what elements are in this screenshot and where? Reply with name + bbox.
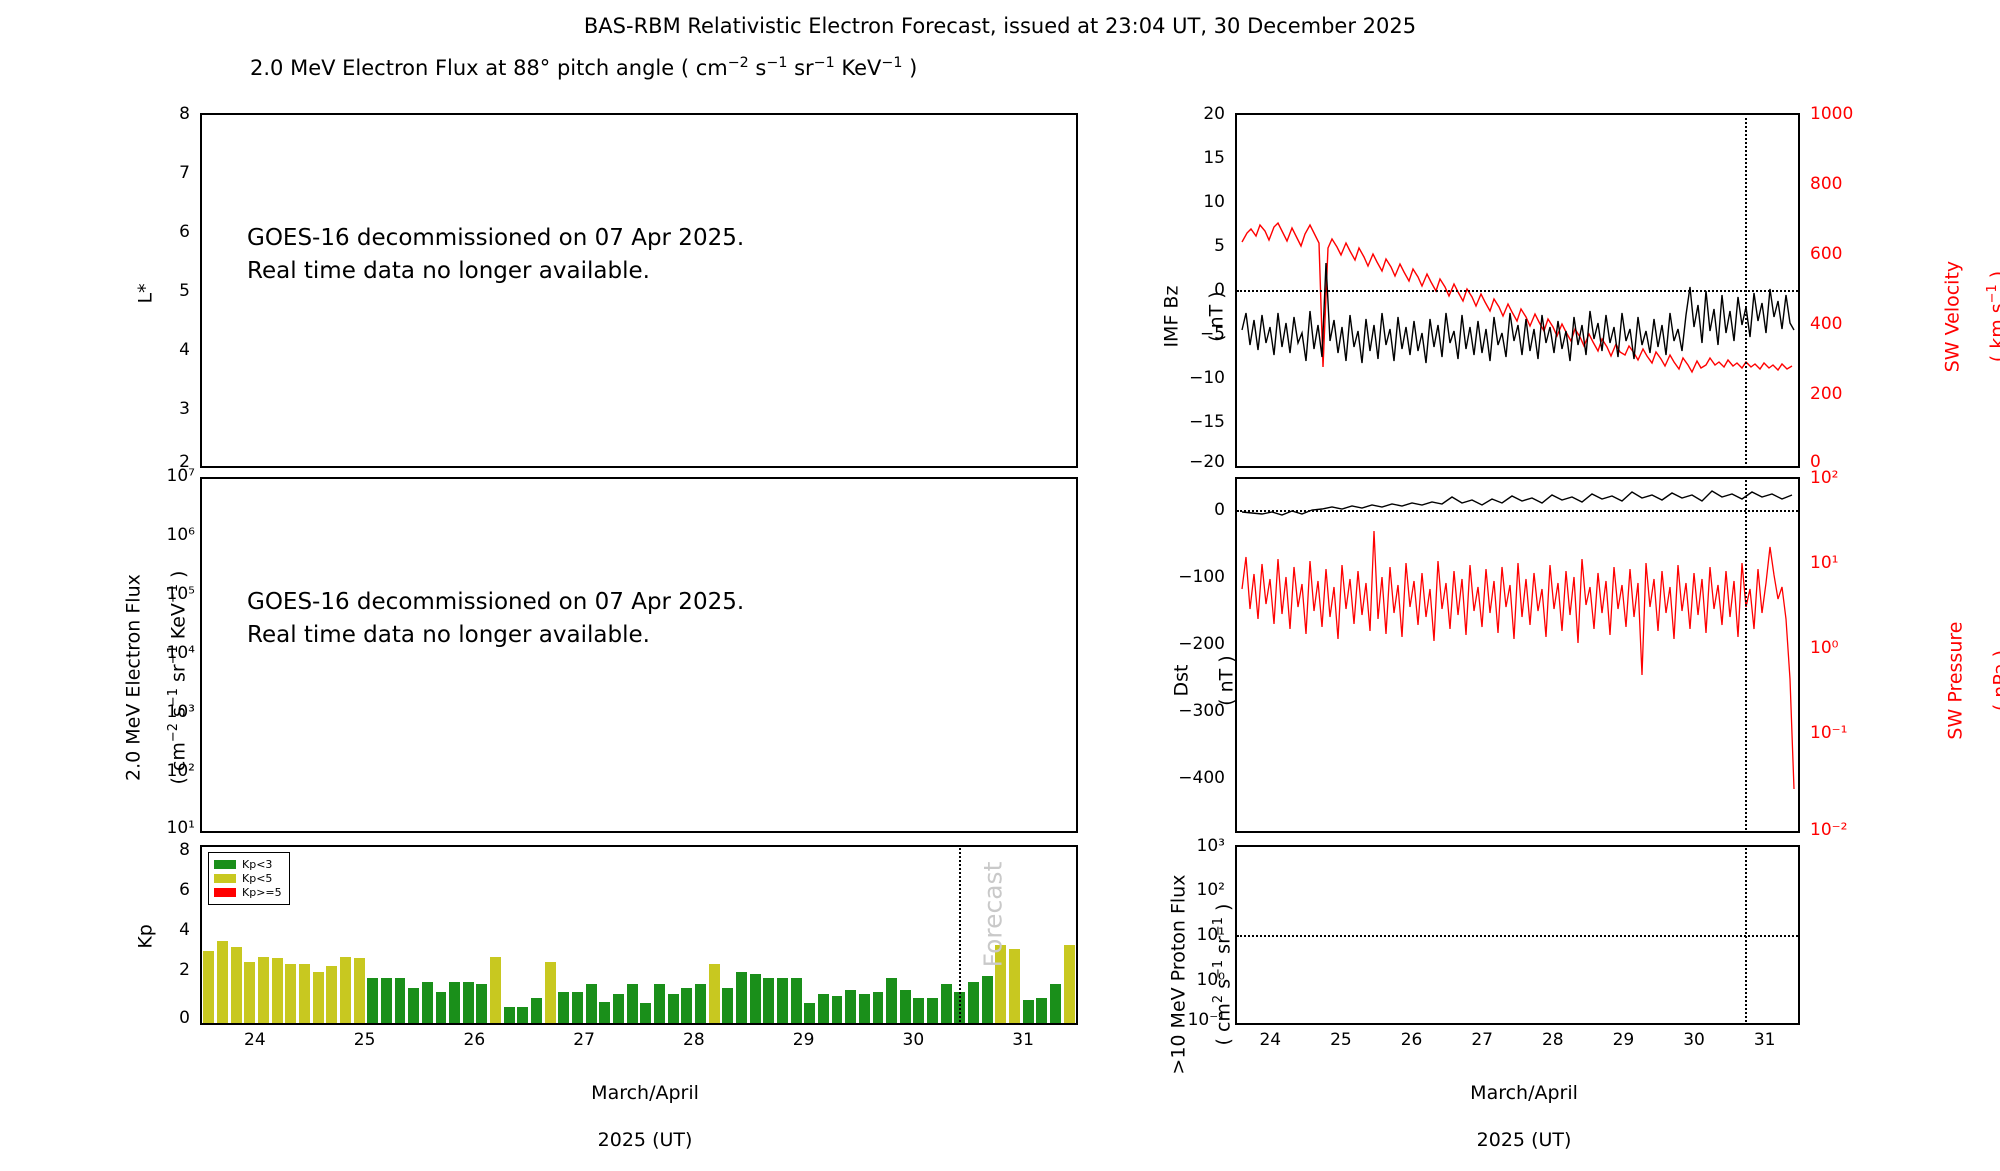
kp-ytick-6: 6: [150, 880, 190, 900]
dst-zero-line: [1237, 510, 1798, 512]
kp-bar: [1036, 998, 1047, 1023]
lstar-panel-frame: [200, 113, 1078, 468]
swp-ytick-1e1: 10¹: [1810, 553, 1880, 573]
lstar-panel-subtitle: 2.0 MeV Electron Flux at 88° pitch angle…: [250, 56, 917, 80]
kp-bar: [736, 972, 747, 1023]
dst-ytick-0: 0: [1155, 500, 1225, 520]
imf-ytick-0: 0: [1165, 280, 1225, 300]
kp-bar: [545, 962, 556, 1023]
kp-forecast-divider: [959, 845, 961, 1025]
kp-bar: [982, 976, 993, 1023]
kp-legend-item-1: Kp<5: [214, 872, 282, 885]
subtitle-text-f: ): [902, 56, 917, 80]
dst-y-axis-label-left: Dst ( nT ): [1147, 597, 1238, 777]
kp-bar: [422, 982, 433, 1023]
dst-ytick-m400: −400: [1145, 768, 1225, 788]
kp-bar: [326, 966, 337, 1023]
proton-xlabel-line1: March/April: [1470, 1082, 1578, 1104]
kp-bar: [258, 957, 269, 1023]
kp-bar: [900, 990, 911, 1023]
subtitle-text-e: KeV: [835, 56, 882, 80]
dst-traces: [1237, 479, 1798, 831]
kp-bar: [722, 988, 733, 1023]
kp-bar-series: [202, 847, 1076, 1023]
kp-xlabel-line2: 2025 (UT): [598, 1129, 693, 1151]
subtitle-exp-3: −1: [814, 55, 835, 71]
lstar-ytick-4: 4: [150, 340, 190, 360]
x-tick-24: 24: [1258, 1030, 1282, 1050]
eflux-ytick-1e6: 10⁶: [135, 525, 195, 545]
kp-bar: [367, 978, 378, 1023]
kp-bar: [1050, 984, 1061, 1023]
degree-symbol: °: [540, 56, 551, 80]
swv-ylabel-l2: ( km s−1 ): [1987, 271, 2000, 362]
kp-bar: [490, 957, 501, 1023]
kp-bar: [791, 978, 802, 1023]
kp-legend: Kp<3 Kp<5 Kp>=5: [208, 852, 290, 905]
x-tick-30: 30: [901, 1030, 925, 1050]
swp-ylabel-l1: SW Pressure: [1944, 622, 1966, 740]
kp-bar: [504, 1007, 515, 1023]
swv-ytick-800: 800: [1810, 174, 1870, 194]
eflux-panel-frame: [200, 477, 1078, 833]
swp-ylabel-l2: ( nPa ): [1990, 650, 2000, 711]
imf-ytick-10: 10: [1165, 192, 1225, 212]
kp-bar: [709, 964, 720, 1023]
kp-bar: [299, 964, 310, 1023]
eflux-ytick-1e1: 10¹: [135, 818, 195, 838]
subtitle-text-c: s: [749, 56, 767, 80]
kp-panel-frame: [200, 845, 1078, 1025]
x-tick-31: 31: [1753, 1030, 1777, 1050]
x-tick-29: 29: [792, 1030, 816, 1050]
swp-ytick-1em2: 10⁻²: [1810, 820, 1880, 840]
x-tick-27: 27: [572, 1030, 596, 1050]
eflux-message-line2: Real time data no longer available.: [247, 622, 650, 648]
kp-ytick-2: 2: [150, 960, 190, 980]
x-tick-26: 26: [1400, 1030, 1424, 1050]
proton-ytick-1e3: 10³: [1160, 836, 1225, 856]
x-tick-28: 28: [1541, 1030, 1565, 1050]
dst-ytick-m200: −200: [1145, 634, 1225, 654]
kp-ytick-0: 0: [150, 1008, 190, 1028]
eflux-y-axis-label: 2.0 MeV Electron Flux ( cm−2 s−1 sr−1 Ke…: [99, 494, 190, 874]
kp-bar: [381, 978, 392, 1023]
kp-bar: [845, 990, 856, 1023]
swv-ytick-200: 200: [1810, 384, 1870, 404]
lstar-panel-message: GOES-16 decommissioned on 07 Apr 2025.Re…: [247, 222, 744, 287]
dst-ytick-m300: −300: [1145, 701, 1225, 721]
kp-bar: [886, 978, 897, 1023]
imf-ytick-20: 20: [1165, 104, 1225, 124]
kp-bar: [613, 994, 624, 1023]
kp-bar: [408, 988, 419, 1023]
x-tick-25: 25: [353, 1030, 377, 1050]
sw-pressure-trace: [1242, 531, 1794, 789]
eflux-ytick-1e5: 10⁵: [135, 584, 195, 604]
kp-bar: [832, 996, 843, 1023]
eflux-ytick-1e4: 10⁴: [135, 643, 195, 663]
swv-ylabel-l1: SW Velocity: [1941, 261, 1963, 372]
kp-bar: [1023, 1000, 1034, 1023]
lstar-ytick-8: 8: [150, 104, 190, 124]
forecast-watermark: Forecast: [979, 850, 1008, 980]
proton-threshold-line: [1237, 935, 1798, 937]
dst-panel-frame: [1235, 477, 1800, 833]
eflux-ytick-1e7: 10⁷: [135, 466, 195, 486]
kp-bar: [599, 1002, 610, 1024]
swv-ytick-1000: 1000: [1810, 104, 1870, 124]
kp-legend-label-0: Kp<3: [242, 858, 272, 871]
imf-y-axis-label-right: SW Velocity ( km s−1 ): [1918, 218, 2000, 428]
kp-ytick-4: 4: [150, 920, 190, 940]
proton-ytick-1e0: 10⁰: [1160, 970, 1225, 990]
proton-xlabel-line2: 2025 (UT): [1477, 1129, 1572, 1151]
kp-x-axis-label: March/April 2025 (UT): [439, 1058, 839, 1153]
x-tick-30: 30: [1682, 1030, 1706, 1050]
kp-bar: [859, 994, 870, 1023]
kp-bar: [873, 992, 884, 1023]
kp-bar: [668, 994, 679, 1023]
kp-bar: [572, 992, 583, 1023]
kp-legend-item-2: Kp>=5: [214, 886, 282, 899]
lstar-ytick-6: 6: [150, 222, 190, 242]
kp-bar: [354, 958, 365, 1023]
x-tick-29: 29: [1611, 1030, 1635, 1050]
imf-ytick-m15: −15: [1155, 412, 1225, 432]
eflux-ytick-1e2: 10²: [135, 761, 195, 781]
swp-ytick-1em1: 10⁻¹: [1810, 723, 1880, 743]
swv-ytick-600: 600: [1810, 244, 1870, 264]
kp-bar: [927, 998, 938, 1023]
kp-bar: [763, 978, 774, 1023]
lstar-ytick-7: 7: [150, 163, 190, 183]
kp-legend-swatch-red: [214, 888, 236, 897]
eflux-panel-message: GOES-16 decommissioned on 07 Apr 2025.Re…: [247, 586, 744, 651]
imf-zero-line: [1237, 290, 1798, 292]
proton-ytick-1em1: 10⁻¹: [1155, 1010, 1225, 1030]
proton-x-axis-label: March/April 2025 (UT): [1368, 1058, 1668, 1153]
kp-ytick-8: 8: [150, 840, 190, 860]
imf-ytick-m5: −5: [1155, 324, 1225, 344]
kp-bar: [558, 992, 569, 1023]
subtitle-exp-4: −1: [881, 55, 902, 71]
dst-ylabel-l2: ( nT ): [1216, 655, 1238, 706]
kp-bar: [654, 984, 665, 1023]
x-tick-24: 24: [243, 1030, 267, 1050]
kp-bar: [681, 988, 692, 1023]
kp-bar: [231, 947, 242, 1023]
lstar-ytick-3: 3: [150, 399, 190, 419]
kp-bar: [436, 992, 447, 1023]
swv-ytick-400: 400: [1810, 314, 1870, 334]
kp-xlabel-line1: March/April: [591, 1082, 699, 1104]
eflux-ytick-1e3: 10³: [135, 702, 195, 722]
eflux-ylabel-line1: 2.0 MeV Electron Flux: [122, 574, 144, 781]
kp-bar: [244, 962, 255, 1023]
kp-bar: [217, 941, 228, 1023]
kp-bar: [476, 984, 487, 1023]
lstar-message-line2: Real time data no longer available.: [247, 258, 650, 284]
dst-ylabel-l1: Dst: [1170, 665, 1192, 697]
kp-bar: [395, 978, 406, 1023]
proton-ytick-1e1: 10¹: [1160, 925, 1225, 945]
x-tick-26: 26: [462, 1030, 486, 1050]
kp-bar: [1009, 949, 1020, 1023]
x-tick-28: 28: [682, 1030, 706, 1050]
dst-y-axis-label-right: SW Pressure ( nPa ): [1921, 582, 2000, 792]
eflux-message-line1: GOES-16 decommissioned on 07 Apr 2025.: [247, 589, 744, 615]
kp-bar: [313, 972, 324, 1023]
kp-bar: [203, 951, 214, 1023]
lstar-message-line1: GOES-16 decommissioned on 07 Apr 2025.: [247, 225, 744, 251]
kp-legend-swatch-green: [214, 860, 236, 869]
imf-ytick-m10: −10: [1155, 368, 1225, 388]
kp-legend-label-1: Kp<5: [242, 872, 272, 885]
imf-ytick-m20: −20: [1155, 452, 1225, 472]
lstar-ytick-5: 5: [150, 281, 190, 301]
subtitle-text-a: 2.0 MeV Electron Flux at 88: [250, 56, 540, 80]
kp-bar: [517, 1007, 528, 1023]
subtitle-text-b: pitch angle ( cm: [550, 56, 727, 80]
kp-bar: [804, 1003, 815, 1023]
subtitle-exp-1: −2: [728, 55, 749, 71]
kp-bar: [463, 982, 474, 1023]
imf-ytick-15: 15: [1165, 148, 1225, 168]
kp-bar: [449, 982, 460, 1023]
kp-bar: [750, 974, 761, 1023]
kp-bar: [695, 984, 706, 1023]
proton-ytick-1e2: 10²: [1160, 880, 1225, 900]
kp-bar: [272, 958, 283, 1023]
kp-bar: [340, 957, 351, 1023]
x-tick-31: 31: [1011, 1030, 1035, 1050]
x-tick-27: 27: [1470, 1030, 1494, 1050]
swp-ytick-1e0: 10⁰: [1810, 638, 1880, 658]
kp-bar: [627, 984, 638, 1023]
kp-bar: [913, 998, 924, 1023]
kp-bar: [968, 982, 979, 1023]
kp-bar: [531, 998, 542, 1023]
dst-ytick-m100: −100: [1145, 567, 1225, 587]
kp-bar: [586, 984, 597, 1023]
x-tick-25: 25: [1329, 1030, 1353, 1050]
imf-ytick-5: 5: [1165, 236, 1225, 256]
dst-forecast-divider: [1745, 477, 1747, 833]
kp-legend-item-0: Kp<3: [214, 858, 282, 871]
kp-bar: [285, 964, 296, 1023]
kp-legend-swatch-olive: [214, 874, 236, 883]
swp-ytick-1e2: 10²: [1810, 468, 1880, 488]
kp-bar: [818, 994, 829, 1023]
subtitle-text-d: sr: [787, 56, 813, 80]
kp-legend-label-2: Kp>=5: [242, 886, 282, 899]
kp-bar: [777, 978, 788, 1023]
page-title: BAS-RBM Relativistic Electron Forecast, …: [0, 14, 2000, 38]
kp-bar: [1064, 945, 1075, 1023]
kp-bar: [941, 984, 952, 1023]
kp-bar: [640, 1003, 651, 1023]
subtitle-exp-2: −1: [766, 55, 787, 71]
